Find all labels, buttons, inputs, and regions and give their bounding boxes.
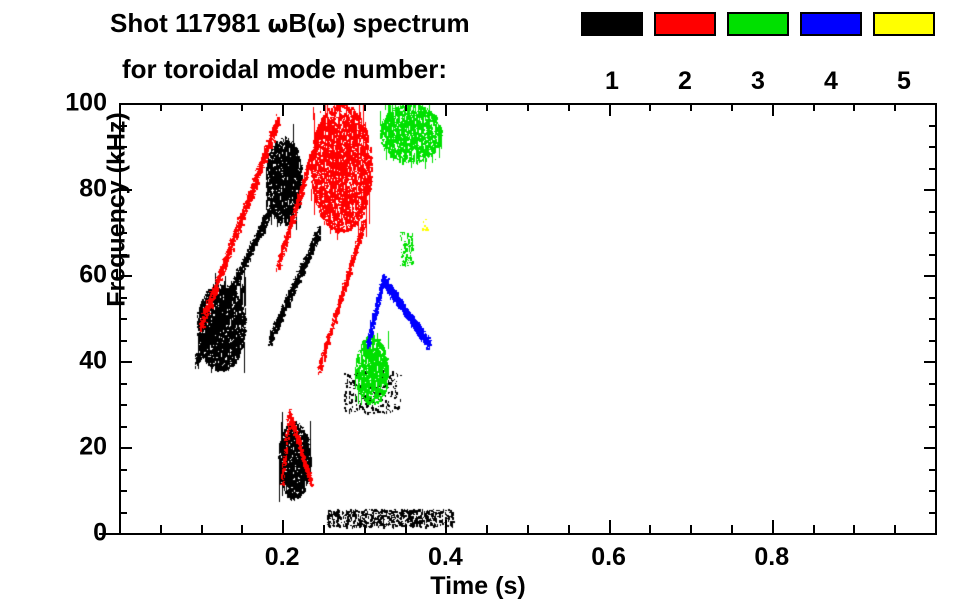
x-tick-label-0.4: 0.4 — [405, 543, 485, 572]
y-tick-right-minor — [929, 146, 937, 148]
x-tick-top-minor — [160, 103, 162, 111]
x-tick-top-minor — [649, 103, 651, 111]
y-tick-right-major — [924, 361, 937, 363]
x-tick-top-minor — [364, 103, 366, 111]
y-tick-right-minor — [929, 490, 937, 492]
x-tick-major — [609, 520, 611, 533]
y-tick-right-minor — [929, 426, 937, 428]
x-tick-major — [935, 520, 937, 533]
y-tick-minor — [119, 426, 127, 428]
x-tick-minor — [853, 525, 855, 533]
x-tick-minor — [731, 525, 733, 533]
x-tick-top-minor — [690, 103, 692, 111]
y-tick-major — [119, 361, 132, 363]
y-tick-minor — [119, 469, 127, 471]
x-tick-top-major — [282, 103, 284, 116]
y-tick-right-minor — [929, 168, 937, 170]
x-tick-minor — [323, 525, 325, 533]
figure-root: Shot 117981 ωB(ω) spectrum for toroidal … — [0, 0, 963, 615]
x-tick-top-minor — [813, 103, 815, 111]
x-tick-label-0.6: 0.6 — [569, 543, 649, 572]
y-tick-label-80: 80 — [47, 175, 107, 204]
x-tick-top-minor — [894, 103, 896, 111]
y-tick-label-100: 100 — [47, 89, 107, 118]
y-tick-label-0: 0 — [47, 519, 107, 548]
x-tick-top-minor — [568, 103, 570, 111]
x-tick-label-0.2: 0.2 — [242, 543, 322, 572]
x-tick-minor — [527, 525, 529, 533]
x-tick-top-minor — [486, 103, 488, 111]
y-tick-minor — [119, 404, 127, 406]
y-tick-right-minor — [929, 254, 937, 256]
y-tick-label-60: 60 — [47, 261, 107, 290]
x-tick-top-major — [772, 103, 774, 116]
y-tick-right-minor — [929, 512, 937, 514]
y-tick-right-minor — [929, 340, 937, 342]
x-tick-major — [282, 520, 284, 533]
x-tick-top-minor — [853, 103, 855, 111]
y-tick-minor — [119, 340, 127, 342]
x-tick-minor — [649, 525, 651, 533]
x-tick-top-major — [445, 103, 447, 116]
y-tick-major — [119, 533, 132, 535]
x-tick-minor — [690, 525, 692, 533]
y-tick-right-minor — [929, 125, 937, 127]
x-tick-minor — [894, 525, 896, 533]
x-tick-top-minor — [405, 103, 407, 111]
y-axis-title: Frequency (kHz) — [103, 85, 132, 335]
x-tick-top-minor — [201, 103, 203, 111]
x-tick-major — [772, 520, 774, 533]
y-tick-label-20: 20 — [47, 433, 107, 462]
y-tick-right-minor — [929, 469, 937, 471]
x-tick-minor — [568, 525, 570, 533]
x-tick-top-minor — [731, 103, 733, 111]
y-tick-right-major — [924, 447, 937, 449]
x-tick-minor — [813, 525, 815, 533]
plot-axes: 0204060801000.20.40.60.8 — [0, 0, 963, 615]
y-tick-right-minor — [929, 232, 937, 234]
y-tick-right-minor — [929, 211, 937, 213]
x-tick-minor — [405, 525, 407, 533]
x-tick-minor — [160, 525, 162, 533]
x-tick-top-minor — [323, 103, 325, 111]
x-tick-top-minor — [241, 103, 243, 111]
x-tick-minor — [201, 525, 203, 533]
y-tick-right-minor — [929, 318, 937, 320]
x-tick-minor — [241, 525, 243, 533]
y-tick-right-major — [924, 189, 937, 191]
y-tick-major — [119, 447, 132, 449]
x-tick-top-major — [609, 103, 611, 116]
y-tick-right-minor — [929, 404, 937, 406]
y-tick-minor — [119, 512, 127, 514]
x-axis-title: Time (s) — [430, 572, 525, 601]
x-tick-major — [119, 520, 121, 533]
x-axis-line — [99, 533, 936, 535]
y-tick-label-40: 40 — [47, 347, 107, 376]
y-tick-right-major — [924, 103, 937, 105]
y-tick-minor — [119, 490, 127, 492]
y-tick-right-major — [924, 533, 937, 535]
x-tick-label-0.8: 0.8 — [732, 543, 812, 572]
x-tick-major — [445, 520, 447, 533]
x-tick-minor — [486, 525, 488, 533]
y-tick-right-minor — [929, 383, 937, 385]
y-tick-right-major — [924, 275, 937, 277]
x-tick-minor — [364, 525, 366, 533]
x-tick-top-minor — [527, 103, 529, 111]
y-tick-right-minor — [929, 297, 937, 299]
y-tick-minor — [119, 383, 127, 385]
